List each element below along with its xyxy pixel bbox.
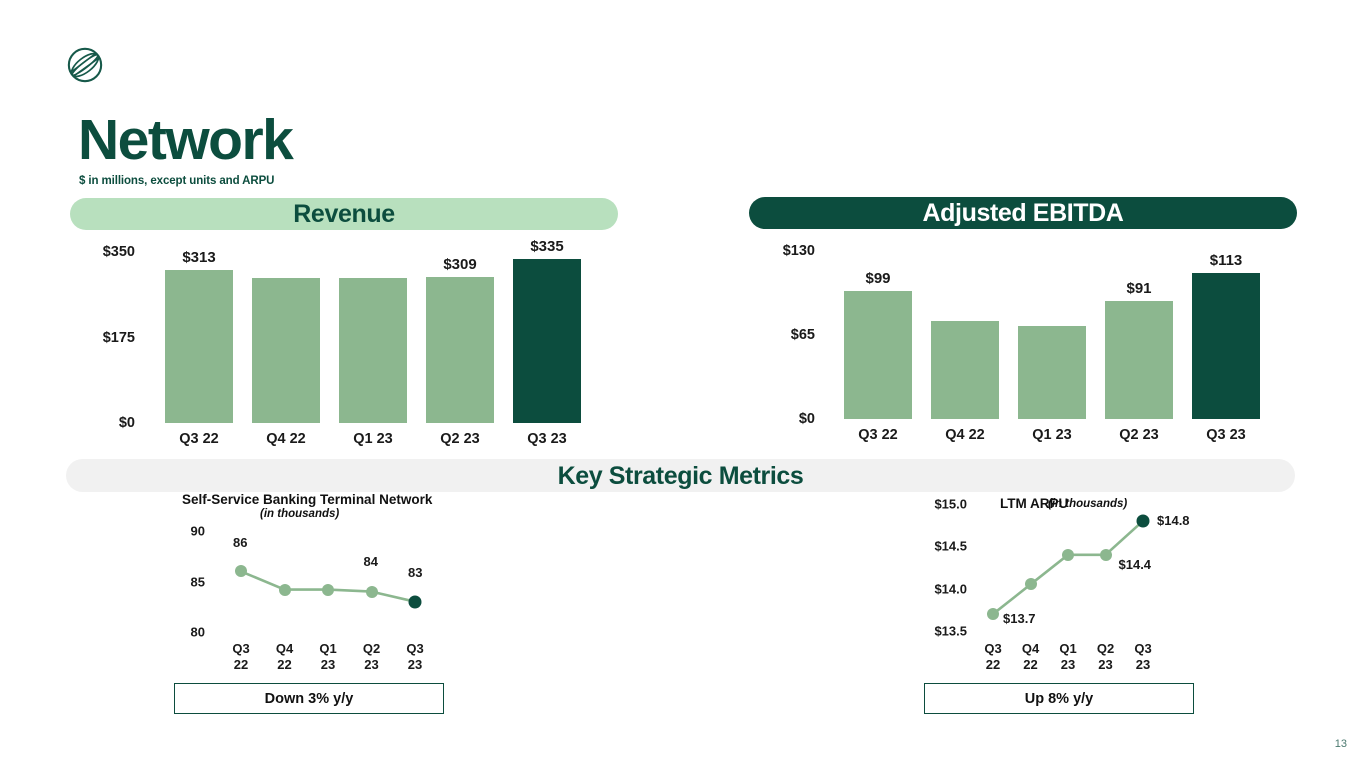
x-axis-category-label: Q123	[1059, 641, 1076, 672]
bar	[252, 278, 320, 423]
page-number: 13	[1335, 738, 1347, 750]
terminal-network-line-chart: Self-Service Banking Terminal Network(in…	[160, 490, 490, 680]
ltm-arpu-callout: Up 8% y/y	[924, 683, 1194, 714]
ebitda-bar-chart: $0$65$130$99Q3 22Q4 22Q1 23$91Q2 23$113Q…	[749, 240, 1299, 452]
x-axis-category-label: Q2 23	[440, 431, 480, 447]
x-axis-category-label: Q2 23	[1119, 427, 1159, 443]
x-axis-category-label: Q322	[232, 641, 249, 672]
bar-value-label: $113	[1210, 252, 1243, 269]
data-point-label: 84	[364, 554, 378, 569]
key-strategic-metrics-title: Key Strategic Metrics	[66, 460, 1295, 493]
revenue-bar-chart: $0$175$350$313Q3 22Q4 22Q1 23$309Q2 23$3…	[70, 240, 620, 455]
data-point-label: $13.7	[1003, 611, 1036, 626]
x-axis-category-label: Q223	[363, 641, 380, 672]
data-point-label: $14.4	[1119, 557, 1152, 572]
bar	[844, 291, 912, 419]
x-axis-category-label: Q1 23	[1032, 427, 1072, 443]
x-axis-category-label: Q322	[984, 641, 1001, 672]
bar-value-label: $313	[182, 249, 215, 266]
data-point-label: 83	[408, 565, 422, 580]
data-point-marker	[322, 584, 334, 596]
x-axis-category-label: Q323	[406, 641, 423, 672]
data-point-marker	[1137, 514, 1150, 527]
bar-value-label: $91	[1126, 280, 1151, 297]
data-point-marker	[987, 608, 999, 620]
bar	[1105, 301, 1173, 419]
bar	[1018, 326, 1086, 419]
y-axis-tick-label: $350	[103, 244, 135, 260]
x-axis-category-label: Q323	[1134, 641, 1151, 672]
bar-value-label: $335	[530, 238, 563, 255]
ltm-arpu-callout-label: Up 8% y/y	[1025, 691, 1094, 707]
bar-value-label: $309	[443, 256, 476, 273]
bar	[165, 270, 233, 423]
x-axis-category-label: Q422	[1022, 641, 1039, 672]
x-axis-category-label: Q223	[1097, 641, 1114, 672]
page-subtitle: $ in millions, except units and ARPU	[79, 175, 274, 187]
slide-canvas: Network $ in millions, except units and …	[0, 0, 1365, 768]
y-axis-tick-label: $130	[783, 243, 815, 259]
page-title: Network	[78, 112, 292, 169]
data-point-marker	[235, 565, 247, 577]
x-axis-category-label: Q3 22	[179, 431, 219, 447]
x-axis-category-label: Q4 22	[945, 427, 985, 443]
bar-value-label: $99	[865, 270, 890, 287]
data-point-marker	[366, 586, 378, 598]
bar	[339, 278, 407, 423]
terminal-network-callout-label: Down 3% y/y	[265, 691, 354, 707]
x-axis-category-label: Q3 23	[527, 431, 567, 447]
globe-logo	[66, 46, 104, 84]
y-axis-tick-label: $65	[791, 327, 815, 343]
bar	[513, 259, 581, 423]
data-point-marker	[279, 584, 291, 596]
x-axis-category-label: Q4 22	[266, 431, 306, 447]
data-point-label: 86	[233, 535, 247, 550]
data-point-marker	[1025, 578, 1037, 590]
x-axis-category-label: Q3 23	[1206, 427, 1246, 443]
data-point-marker	[1062, 549, 1074, 561]
y-axis-tick-label: $0	[119, 415, 135, 431]
bar	[931, 321, 999, 419]
x-axis-category-label: Q3 22	[858, 427, 898, 443]
revenue-chart-title: Revenue	[293, 200, 394, 229]
ltm-arpu-line-chart: LTM ARPU(in thousands)$13.5$14.0$14.5$15…	[915, 490, 1215, 680]
x-axis-category-label: Q422	[276, 641, 293, 672]
x-axis-category-label: Q123	[319, 641, 336, 672]
data-point-label: $14.8	[1157, 513, 1190, 528]
data-point-marker	[1100, 549, 1112, 561]
x-axis-category-label: Q1 23	[353, 431, 393, 447]
y-axis-tick-label: $175	[103, 330, 135, 346]
data-point-marker	[409, 595, 422, 608]
bar	[1192, 273, 1260, 419]
terminal-network-callout: Down 3% y/y	[174, 683, 444, 714]
ebitda-chart-banner: Adjusted EBITDA	[749, 197, 1297, 229]
y-axis-tick-label: $0	[799, 411, 815, 427]
ebitda-chart-title: Adjusted EBITDA	[923, 199, 1124, 228]
bar	[426, 277, 494, 423]
revenue-chart-banner: Revenue	[70, 198, 618, 230]
